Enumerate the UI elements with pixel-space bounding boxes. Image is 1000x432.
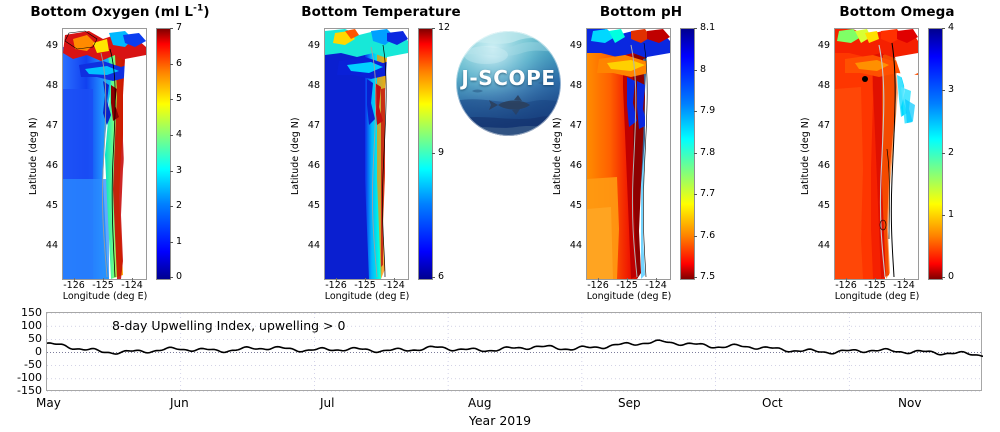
cbar-label-omega-1: 1 xyxy=(948,209,954,220)
cbar-tick-ph-2 xyxy=(694,111,697,112)
upwelling-index-chart: 150 100 50 0 -50 -100 -150 8-day Upwelli… xyxy=(0,296,1000,432)
cbar-tick-oxygen-0 xyxy=(170,28,173,29)
cbar-tick-oxygen-1 xyxy=(170,64,173,65)
cbar-tick-oxygen-3 xyxy=(170,135,173,136)
cbar-tick-oxygen-2 xyxy=(170,99,173,100)
ytick-ph-47: 47 xyxy=(560,120,582,131)
cbar-label-omega-0: 0 xyxy=(948,271,954,282)
ytick-oxygen-48: 48 xyxy=(36,80,58,91)
xtick-temperature-124: -124 xyxy=(376,280,412,291)
map-raster-oxygen xyxy=(63,29,146,279)
cbar-label-ph-81: 8.1 xyxy=(700,22,715,33)
cbar-label-oxygen-3: 3 xyxy=(176,165,182,176)
cbar-tick-ph-1 xyxy=(694,70,697,71)
panel-title-temperature-text: Bottom Temperature xyxy=(301,4,460,20)
panel-bottom-oxygen: Bottom Oxygen (ml L-1) Latitude (deg N) … xyxy=(0,0,250,296)
ytick-oxygen-46: 46 xyxy=(36,160,58,171)
ytick-omega-44: 44 xyxy=(808,240,830,251)
map-raster-omega xyxy=(835,29,918,279)
cbar-tick-omega-4 xyxy=(942,277,945,278)
cbar-label-ph-75: 7.5 xyxy=(700,271,715,282)
colorbar-ph[interactable] xyxy=(680,28,695,280)
panel-title-temperature: Bottom Temperature xyxy=(256,4,506,20)
cbar-label-oxygen-4: 4 xyxy=(176,129,182,140)
map-raster-temperature xyxy=(325,29,408,279)
panel-title-oxygen: Bottom Oxygen (ml L-1) xyxy=(0,4,245,20)
panel-title-ph-text: Bottom pH xyxy=(600,4,682,20)
cbar-tick-omega-2 xyxy=(942,153,945,154)
ytick-oxygen-45: 45 xyxy=(36,200,58,211)
ts-xtick-sep: Sep xyxy=(618,396,666,410)
j-scope-logo[interactable]: J-SCOPE xyxy=(456,31,561,136)
ytick-ph-49: 49 xyxy=(560,40,582,51)
figure-root: Bottom Oxygen (ml L-1) Latitude (deg N) … xyxy=(0,0,1000,432)
panel-title-omega-text: Bottom Omega xyxy=(839,4,954,20)
cbar-label-ph-78: 7.8 xyxy=(700,147,715,158)
ts-ytick-0: 0 xyxy=(0,345,42,358)
ts-ytick-100: 100 xyxy=(0,319,42,332)
ts-ytick-150: 150 xyxy=(0,306,42,319)
cbar-tick-omega-3 xyxy=(942,215,945,216)
colorbar-oxygen[interactable] xyxy=(156,28,171,280)
cbar-label-ph-80: 8 xyxy=(700,64,706,75)
map-bottom-temperature[interactable] xyxy=(324,28,409,280)
cbar-tick-ph-0 xyxy=(694,28,697,29)
ytick-ph-44: 44 xyxy=(560,240,582,251)
cbar-label-oxygen-2: 2 xyxy=(176,200,182,211)
ytick-oxygen-44: 44 xyxy=(36,240,58,251)
cbar-tick-omega-1 xyxy=(942,90,945,91)
ytick-temperature-44: 44 xyxy=(298,240,320,251)
ts-xtick-jun: Jun xyxy=(170,396,218,410)
ts-xtick-nov: Nov xyxy=(898,396,946,410)
ytick-temperature-48: 48 xyxy=(298,80,320,91)
ytick-temperature-47: 47 xyxy=(298,120,320,131)
ts-title: 8-day Upwelling Index, upwelling > 0 xyxy=(112,318,345,333)
xtick-oxygen-124: -124 xyxy=(114,280,150,291)
cbar-label-oxygen-7: 7 xyxy=(176,22,182,33)
ts-ytick-neg100: -100 xyxy=(0,371,42,384)
ts-xaxis-label: Year 2019 xyxy=(430,413,570,428)
cbar-label-oxygen-0: 0 xyxy=(176,271,182,282)
ts-xtick-aug: Aug xyxy=(468,396,516,410)
ts-ytick-neg50: -50 xyxy=(0,358,42,371)
cbar-label-ph-76: 7.6 xyxy=(700,230,715,241)
ytick-omega-47: 47 xyxy=(808,120,830,131)
ts-ytick-50: 50 xyxy=(0,332,42,345)
cbar-label-omega-3: 3 xyxy=(948,84,954,95)
ytick-oxygen-47: 47 xyxy=(36,120,58,131)
cbar-tick-temperature-1 xyxy=(432,153,435,154)
map-bottom-oxygen[interactable] xyxy=(62,28,147,280)
panel-bottom-ph: Bottom pH Latitude (deg N) 49 48 47 46 4… xyxy=(524,0,774,296)
ytick-temperature-45: 45 xyxy=(298,200,320,211)
cbar-tick-oxygen-6 xyxy=(170,242,173,243)
cbar-label-ph-77: 7.7 xyxy=(700,188,715,199)
cbar-tick-temperature-2 xyxy=(432,277,435,278)
ytick-omega-46: 46 xyxy=(808,160,830,171)
panel-title-ph: Bottom pH xyxy=(516,4,766,20)
map-bottom-ph[interactable] xyxy=(586,28,671,280)
cbar-label-omega-2: 2 xyxy=(948,147,954,158)
cbar-tick-ph-5 xyxy=(694,236,697,237)
ytick-omega-45: 45 xyxy=(808,200,830,211)
cbar-label-omega-4: 4 xyxy=(948,22,954,33)
ytick-ph-46: 46 xyxy=(560,160,582,171)
ts-xtick-jul: Jul xyxy=(320,396,368,410)
cbar-tick-ph-6 xyxy=(694,277,697,278)
colorbar-temperature[interactable] xyxy=(418,28,433,280)
panel-title-oxygen-sup: -1 xyxy=(193,4,203,14)
map-raster-ph xyxy=(587,29,670,279)
ts-data-line xyxy=(47,340,983,356)
map-bottom-omega[interactable] xyxy=(834,28,919,280)
cbar-tick-ph-4 xyxy=(694,194,697,195)
xtick-ph-124: -124 xyxy=(638,280,674,291)
panel-title-oxygen-text: Bottom Oxygen (ml L xyxy=(30,4,193,20)
cbar-tick-omega-0 xyxy=(942,28,945,29)
ytick-oxygen-49: 49 xyxy=(36,40,58,51)
cbar-label-ph-79: 7.9 xyxy=(700,105,715,116)
ytick-ph-48: 48 xyxy=(560,80,582,91)
cbar-tick-temperature-0 xyxy=(432,28,435,29)
ytick-omega-49: 49 xyxy=(808,40,830,51)
cbar-label-oxygen-5: 5 xyxy=(176,93,182,104)
panel-title-omega: Bottom Omega xyxy=(772,4,1000,20)
cbar-label-temperature-6: 6 xyxy=(438,271,444,282)
ts-xtick-oct: Oct xyxy=(762,396,810,410)
ytick-temperature-46: 46 xyxy=(298,160,320,171)
ts-xtick-may: May xyxy=(36,396,84,410)
cbar-tick-ph-3 xyxy=(694,153,697,154)
colorbar-omega[interactable] xyxy=(928,28,943,280)
cbar-tick-oxygen-5 xyxy=(170,206,173,207)
cbar-label-oxygen-6: 6 xyxy=(176,58,182,69)
xtick-omega-124: -124 xyxy=(886,280,922,291)
cbar-label-oxygen-1: 1 xyxy=(176,236,182,247)
panel-bottom-omega: Bottom Omega Latitude (deg N) 49 48 47 4… xyxy=(770,0,1000,296)
ytick-omega-48: 48 xyxy=(808,80,830,91)
cbar-label-temperature-9: 9 xyxy=(438,147,444,158)
panel-title-oxygen-tail: ) xyxy=(203,4,209,20)
cbar-label-temperature-12: 12 xyxy=(438,22,450,33)
cbar-tick-oxygen-4 xyxy=(170,171,173,172)
j-scope-logo-text: J-SCOPE xyxy=(456,66,561,90)
ytick-temperature-49: 49 xyxy=(298,40,320,51)
ytick-ph-45: 45 xyxy=(560,200,582,211)
cbar-tick-oxygen-7 xyxy=(170,277,173,278)
